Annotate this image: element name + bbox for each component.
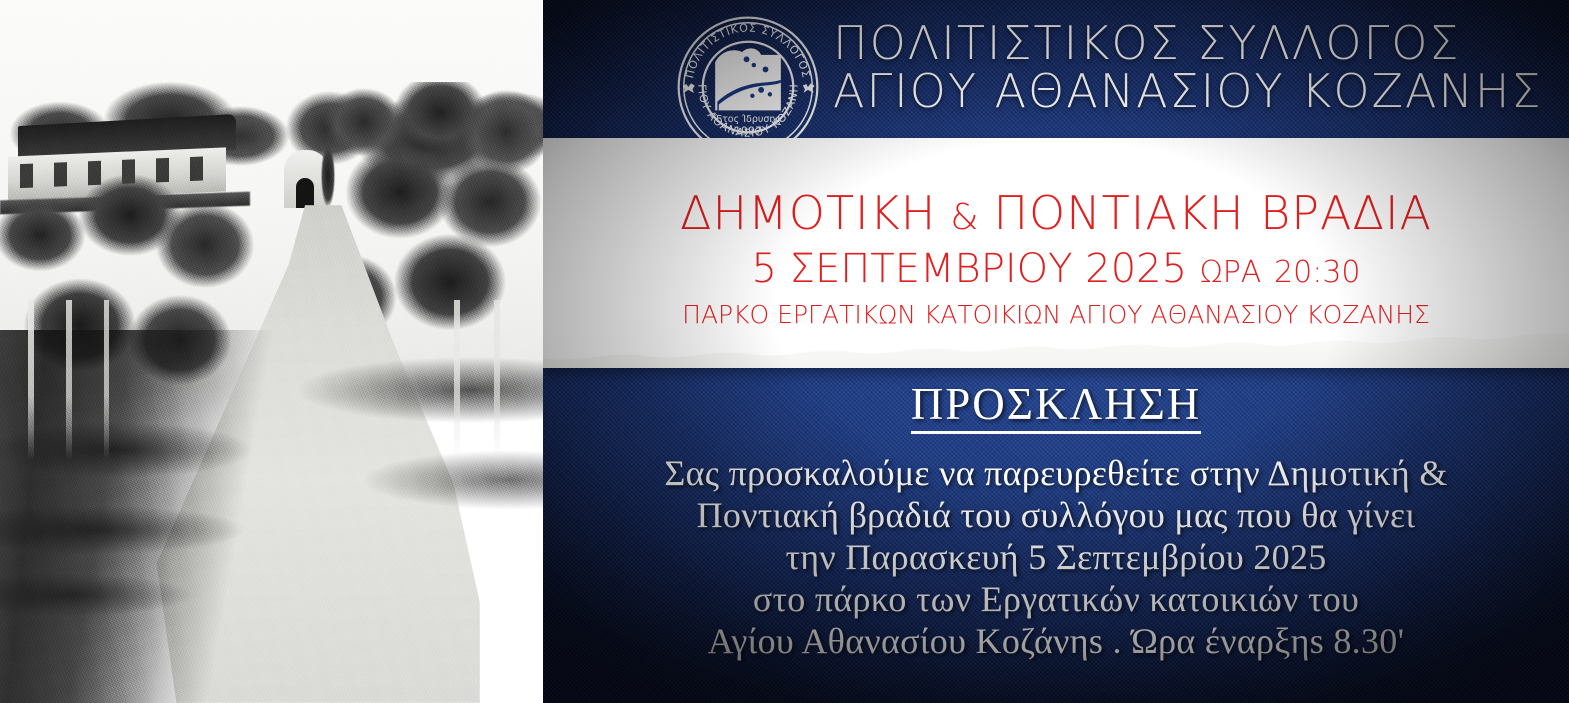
seal-emblem-landscape [715,48,781,110]
event-time-label: ΩΡΑ [1200,255,1262,290]
event-title-part2: ΠΟΝΤΙΑΚΗ ΒΡΑΔΙΑ [993,186,1432,240]
organisation-title: ΠΟΛΙΤΙΣΤΙΚΟΣ ΣΥΛΛΟΓΟΣ ΑΓΙΟΥ ΑΘΑΝΑΣΙΟΥ ΚΟ… [833,20,1553,116]
event-venue: ΠΑΡΚΟ ΕΡΓΑΤΙΚΩΝ ΚΑΤΟΙΚΙΩΝ ΑΓΙΟΥ ΑΘΑΝΑΣΙΟ… [543,300,1569,329]
invitation-line-2: Ποντιακή βραδιά του συλλόγου μας που θα … [543,494,1569,536]
seal-star-left [683,83,695,92]
seal-star-right [803,83,815,92]
event-title: ΔΗΜΟΤΙΚΗ&ΠΟΝΤΙΑΚΗ ΒΡΑΔΙΑ [543,138,1569,240]
photo-film-grain [0,0,543,703]
event-poster: ΠΟΛΙΤΙΣΤΙΚΟΣ ΣΥΛΛΟΓΟΣ ΑΓΙΟΥ ΑΘΑΝΑΣΙΟΥ ΚΟ… [0,0,1569,703]
event-title-part1: ΔΗΜΟΤΙΚΗ [680,186,936,240]
seal-founded-year: 1997 [734,124,762,137]
historic-photograph [0,0,543,703]
event-date-line: 5 ΣΕΠΤΕΜΒΡΙΟΥ 2025 ΩΡΑ 20:30 [543,246,1569,292]
invitation-heading-text: ΠΡΟΣΚΛΗΣΗ [911,379,1202,434]
event-time-value: 20:30 [1274,255,1360,290]
poster-right-panel: ΠΟΛΙΤΙΣΤΙΚΟΣ ΣΥΛΛΟΓΟΣ ΑΓΙΟΥ ΑΘΑΝΑΣΙΟΥ ΚΟ… [543,0,1569,703]
event-date: 5 ΣΕΠΤΕΜΒΡΙΟΥ 2025 [752,246,1188,292]
organisation-title-line1: ΠΟΛΙΤΙΣΤΙΚΟΣ ΣΥΛΛΟΓΟΣ [833,20,1553,68]
invitation-body: Σας προσκαλούμε να παρευρεθείτε στην Δημ… [543,452,1569,662]
invitation-line-4: στο πάρκο των Εργατικών κατοικιών του [543,578,1569,620]
torn-paper-band: ΔΗΜΟΤΙΚΗ&ΠΟΝΤΙΑΚΗ ΒΡΑΔΙΑ 5 ΣΕΠΤΕΜΒΡΙΟΥ 2… [543,138,1569,368]
invitation-heading: ΠΡΟΣΚΛΗΣΗ [543,378,1569,430]
organisation-title-line2: ΑΓΙΟΥ ΑΘΑΝΑΣΙΟΥ ΚΟΖΑΝΗΣ [833,68,1553,116]
invitation-line-5: Αγίου Αθανασίου Κοζάνηs . Ώρα έναρξηs 8.… [543,620,1569,662]
event-announcement: ΔΗΜΟΤΙΚΗ&ΠΟΝΤΙΑΚΗ ΒΡΑΔΙΑ 5 ΣΕΠΤΕΜΒΡΙΟΥ 2… [543,138,1569,329]
seal-founded-label: Έτος Ίδρυσης [714,114,781,125]
event-title-ampersand: & [936,197,993,238]
invitation-line-3: την Παρασκευή 5 Σεπτεμβρίου 2025 [543,536,1569,578]
invitation-line-1: Σας προσκαλούμε να παρευρεθείτε στην Δημ… [543,452,1569,494]
